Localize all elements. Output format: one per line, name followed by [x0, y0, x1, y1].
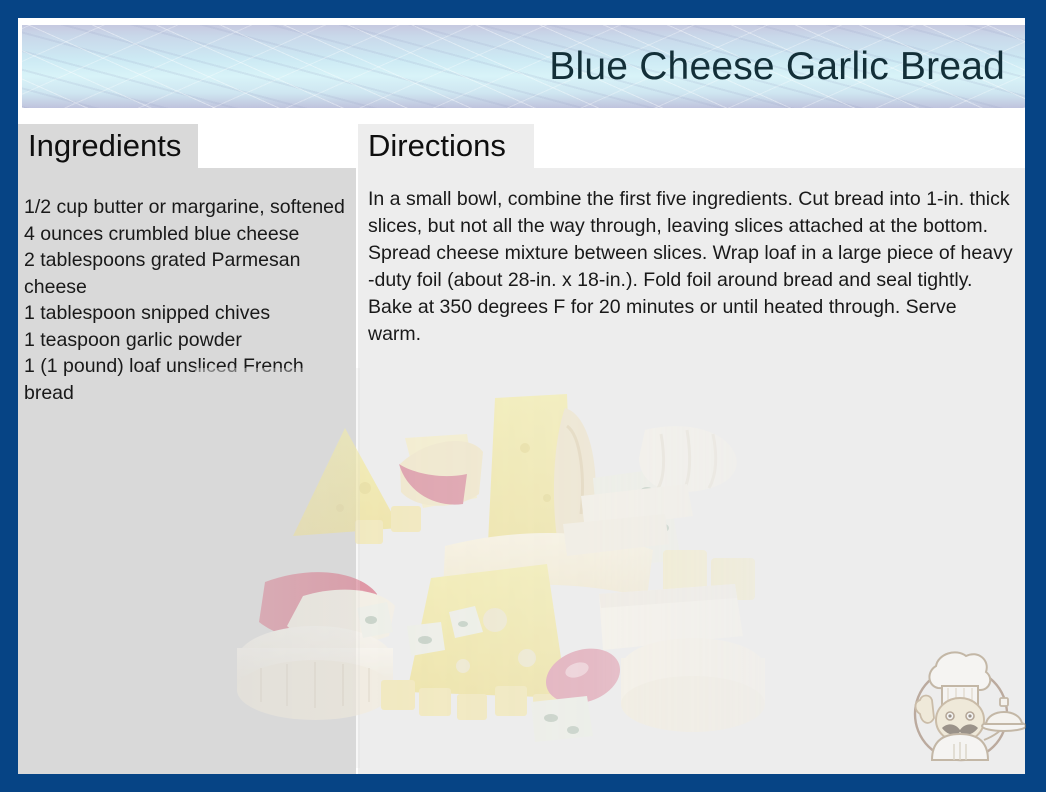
ingredients-list: 1/2 cup butter or margarine, softened4 o… — [24, 194, 348, 406]
chef-logo — [898, 636, 1026, 768]
title-banner: Blue Cheese Garlic Bread — [22, 25, 1025, 108]
slide-border-top — [0, 0, 1046, 18]
ingredient-item: 1 (1 pound) loaf unsliced French bread — [24, 353, 348, 406]
slide-border-left — [0, 0, 18, 792]
ingredient-item: 1 teaspoon garlic powder — [24, 327, 348, 354]
slide-border-right — [1025, 0, 1046, 792]
directions-heading: Directions — [358, 124, 534, 168]
directions-body: In a small bowl, combine the first five … — [368, 186, 1013, 348]
ingredients-heading: Ingredients — [18, 124, 198, 168]
ingredient-item: 4 ounces crumbled blue cheese — [24, 221, 348, 248]
directions-heading-label: Directions — [368, 128, 506, 164]
page-title: Blue Cheese Garlic Bread — [549, 45, 1005, 89]
ingredient-item: 1 tablespoon snipped chives — [24, 300, 348, 327]
ingredients-panel: 1/2 cup butter or margarine, softened4 o… — [18, 168, 356, 774]
ingredient-item: 2 tablespoons grated Parmesan cheese — [24, 247, 348, 300]
ingredient-item: 1/2 cup butter or margarine, softened — [24, 194, 348, 221]
recipe-slide: Blue Cheese Garlic Bread Ingredients Dir… — [0, 0, 1046, 792]
ingredients-heading-label: Ingredients — [28, 128, 181, 164]
slide-border-bottom — [0, 774, 1046, 792]
